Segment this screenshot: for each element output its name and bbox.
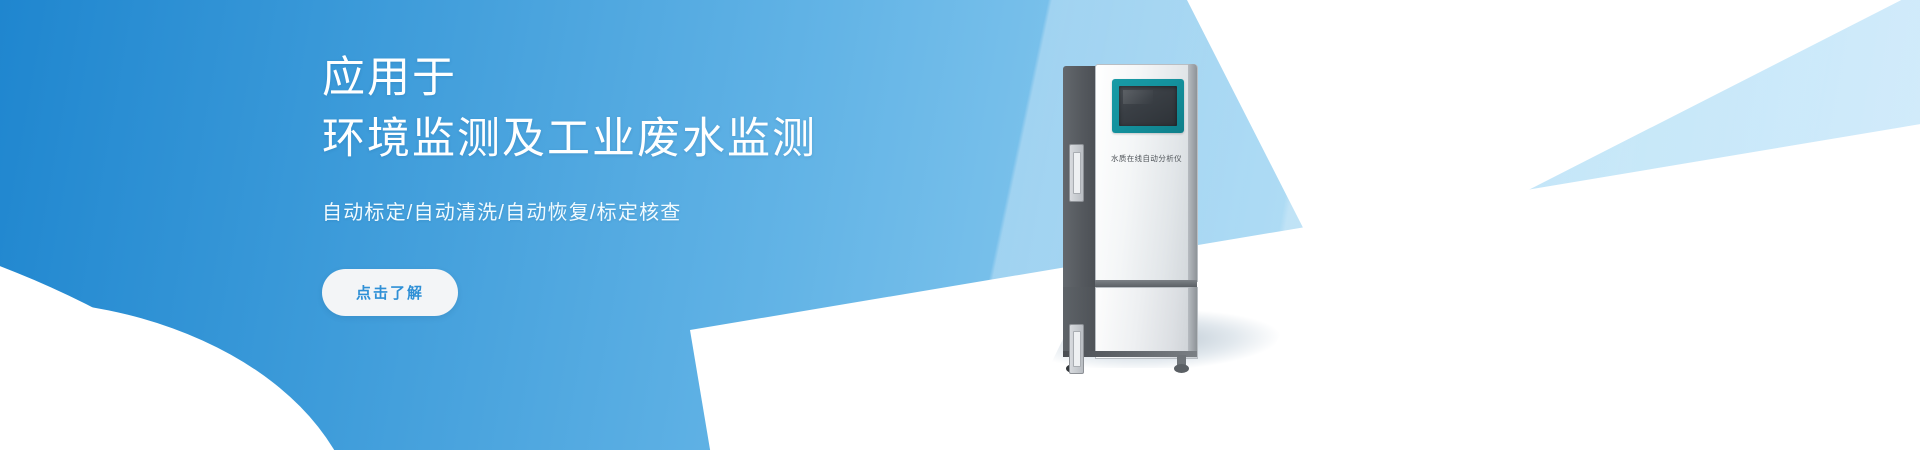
device-display-bezel bbox=[1112, 79, 1184, 133]
device-upper-right-edge bbox=[1188, 64, 1197, 280]
device-lower-cabinet bbox=[1095, 287, 1198, 359]
analyzer-device-illustration: 水质在线自动分析仪 bbox=[1055, 58, 1285, 378]
banner-content: 应用于 环境监测及工业废水监测 自动标定/自动清洗/自动恢复/标定核查 点击了解 bbox=[322, 48, 1082, 316]
device-section-divider bbox=[1095, 280, 1197, 287]
device-upper-door-handle bbox=[1069, 144, 1084, 202]
learn-more-button[interactable]: 点击了解 bbox=[322, 269, 458, 316]
device-upper-cabinet: 水质在线自动分析仪 bbox=[1095, 64, 1198, 282]
banner-subtitle: 自动标定/自动清洗/自动恢复/标定核查 bbox=[322, 196, 1082, 225]
device-lower-right-edge bbox=[1188, 287, 1197, 357]
hero-banner: 应用于 环境监测及工业废水监测 自动标定/自动清洗/自动恢复/标定核查 点击了解… bbox=[0, 0, 1920, 450]
device-lower-door-handle bbox=[1069, 324, 1084, 374]
device-right-caster bbox=[1174, 364, 1189, 373]
device-face-label: 水质在线自动分析仪 bbox=[1096, 153, 1197, 164]
banner-headline: 应用于 环境监测及工业废水监测 bbox=[322, 48, 1082, 170]
device-display-screen bbox=[1119, 86, 1177, 126]
